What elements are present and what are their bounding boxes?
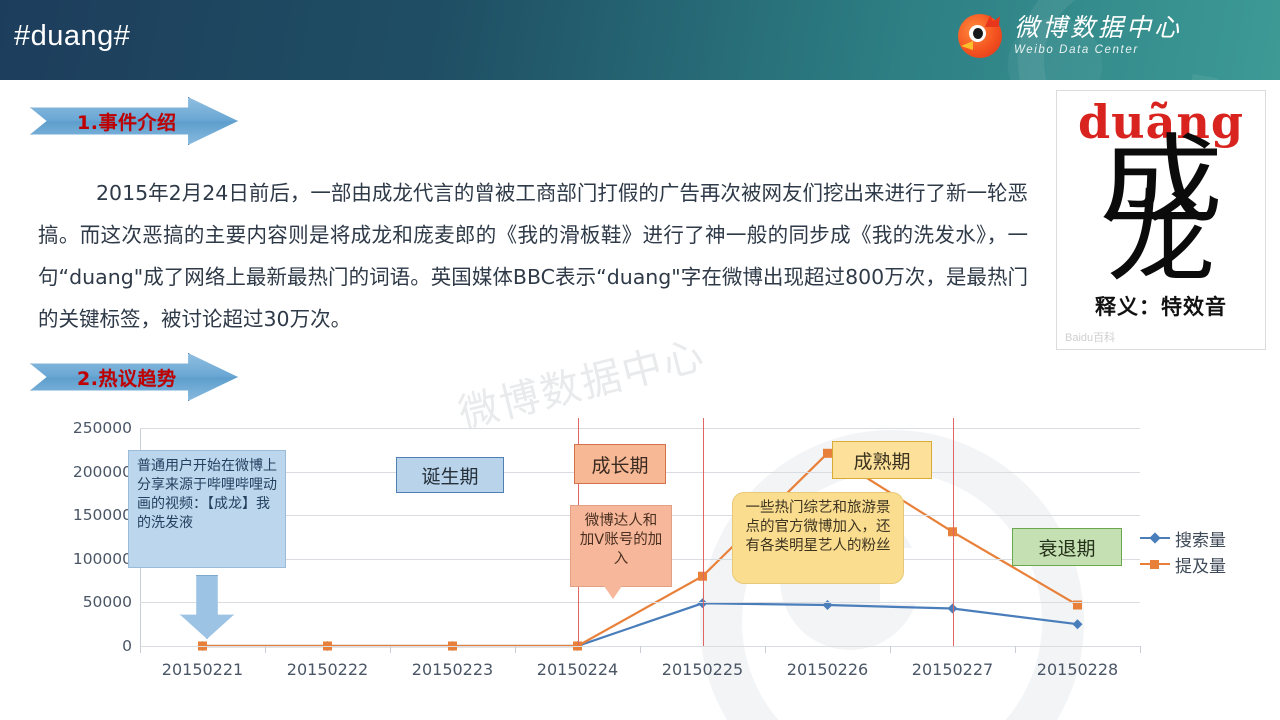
chart-gridline (140, 428, 1140, 429)
chart-x-tick-label: 20150222 (258, 660, 398, 679)
slide-header: #duang# 微博数据中心 Weibo Data Center (0, 0, 1280, 80)
chart-line-搜索量 (203, 603, 1078, 646)
section-banner-1-label: 1.事件介绍 (77, 108, 176, 135)
chart-x-tick (515, 646, 516, 653)
legend-marker-diamond-icon (1140, 532, 1170, 544)
chart-phase-divider (703, 418, 704, 646)
page-title: #duang# (14, 20, 130, 53)
slide-canvas: #duang# 微博数据中心 Weibo Data Center 1.事件介绍 … (0, 0, 1280, 720)
brand-logo-group: 微博数据中心 Weibo Data Center (958, 14, 1182, 58)
chart-x-tick-label: 20150223 (383, 660, 523, 679)
chart-point-marker (823, 449, 832, 458)
chart-x-tick (1015, 646, 1016, 653)
chart-y-tick-label: 50000 (38, 593, 132, 611)
duang-glyph-stack: 成 龙 (1097, 141, 1225, 283)
chart-x-tick-label: 20150228 (1008, 660, 1148, 679)
brand-name-cn: 微博数据中心 (1014, 15, 1182, 40)
bird-pupil-icon (973, 28, 983, 39)
section-banner-2: 2.热议趋势 (30, 353, 238, 401)
bird-crest-icon (985, 15, 1000, 27)
phase-label-growth: 成长期 (574, 444, 666, 484)
chart-x-tick (890, 646, 891, 653)
paragraph-text: 2015年2月24日前后，一部由成龙代言的曾被工商部门打假的广告再次被网友们挖出… (38, 181, 1028, 331)
duang-composite-glyph: 成 龙 (1057, 137, 1265, 287)
chart-phase-divider (953, 418, 954, 646)
chart-x-tick (390, 646, 391, 653)
brand-name-en: Weibo Data Center (1014, 45, 1182, 57)
chart-x-tick-label: 20150227 (883, 660, 1023, 679)
chart-x-tick-label: 20150226 (758, 660, 898, 679)
chart-gridline (140, 602, 1140, 603)
chart-y-tick-label: 0 (38, 637, 132, 655)
chart-point-marker (1073, 619, 1083, 629)
event-description-paragraph: 2015年2月24日前后，一部由成龙代言的曾被工商部门打假的广告再次被网友们挖出… (38, 172, 1028, 340)
legend-item-search[interactable]: 搜索量 (1140, 525, 1226, 551)
callout-user-sharing: 普通用户开始在微博上分享来源于哔哩哔哩动画的视频：【成龙】我的洗发液 (128, 450, 286, 568)
chart-x-tick (765, 646, 766, 653)
legend-diamond-search (1149, 532, 1160, 543)
phase-label-mature: 成熟期 (832, 441, 932, 479)
duang-card-watermark: Baidu百科 (1065, 329, 1115, 345)
duang-glyph-bottom: 龙 (1085, 188, 1236, 289)
legend-item-mentions[interactable]: 提及量 (1140, 551, 1226, 577)
callout-tail-icon (604, 586, 622, 599)
chart-legend: 搜索量 提及量 (1140, 525, 1226, 577)
chart-y-tick-label: 250000 (38, 419, 132, 437)
callout-influencers: 微博达人和加V账号的加入 (570, 505, 672, 587)
section-banner-1: 1.事件介绍 (30, 97, 238, 145)
chart-x-tick (265, 646, 266, 653)
section-banner-2-label: 2.热议趋势 (77, 364, 176, 391)
legend-marker-square-icon (1140, 558, 1170, 570)
chart-x-tick-label: 20150225 (633, 660, 773, 679)
legend-square-mentions (1150, 560, 1159, 569)
chart-x-tick (640, 646, 641, 653)
chart-x-tick (140, 646, 141, 653)
phase-label-decline: 衰退期 (1012, 528, 1122, 566)
chart-y-tick-label: 150000 (38, 506, 132, 524)
chart-x-tick-label: 20150224 (508, 660, 648, 679)
brand-text: 微博数据中心 Weibo Data Center (1014, 15, 1182, 57)
chart-x-tick (1140, 646, 1141, 653)
phase-label-birth: 诞生期 (396, 457, 504, 493)
legend-label-mentions: 提及量 (1175, 552, 1226, 577)
chart-y-tick-label: 200000 (38, 463, 132, 481)
duang-character-card: duãng 成 龙 释义：特效音 Baidu百科 (1056, 90, 1266, 350)
weibo-bird-icon (958, 14, 1002, 58)
bird-beak-icon (961, 41, 973, 50)
duang-meaning: 释义：特效音 (1057, 291, 1265, 321)
chart-x-tick-label: 20150221 (133, 660, 273, 679)
chart-y-tick-label: 100000 (38, 550, 132, 568)
legend-label-search: 搜索量 (1175, 526, 1226, 551)
callout-official-accounts: 一些热门综艺和旅游景点的官方微博加入，还有各类明星艺人的粉丝 (732, 492, 904, 584)
